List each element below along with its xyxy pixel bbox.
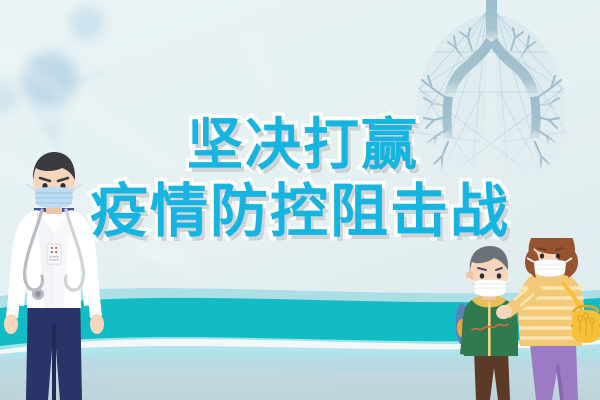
molecule-sphere-icon — [0, 82, 18, 112]
mother-adjusting-boy-mask-illustration — [456, 238, 600, 400]
yellow-flower-handbag-icon — [571, 306, 600, 343]
masked-doctor-illustration — [0, 148, 114, 400]
molecule-sphere-icon — [70, 6, 104, 40]
boy-figure — [456, 246, 518, 400]
medical-id-badge-icon — [47, 244, 61, 264]
poster-canvas: 坚决打赢 疫情防控阻击战 — [0, 0, 600, 400]
